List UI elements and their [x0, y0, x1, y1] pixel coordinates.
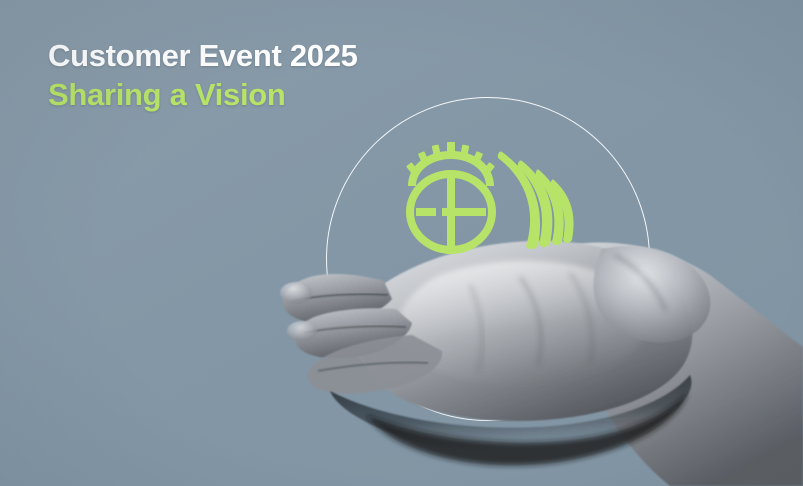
promo-banner: Customer Event 2025 Sharing a Vision: [0, 0, 803, 486]
page-title: Customer Event 2025: [48, 40, 358, 71]
crossed-circle-icon: [410, 174, 492, 250]
page-subtitle: Sharing a Vision: [48, 79, 358, 110]
headline-block: Customer Event 2025 Sharing a Vision: [48, 40, 358, 110]
crowned-globe-and-waves-logo: [398, 142, 578, 257]
four-crescent-waves-icon: [498, 151, 574, 249]
